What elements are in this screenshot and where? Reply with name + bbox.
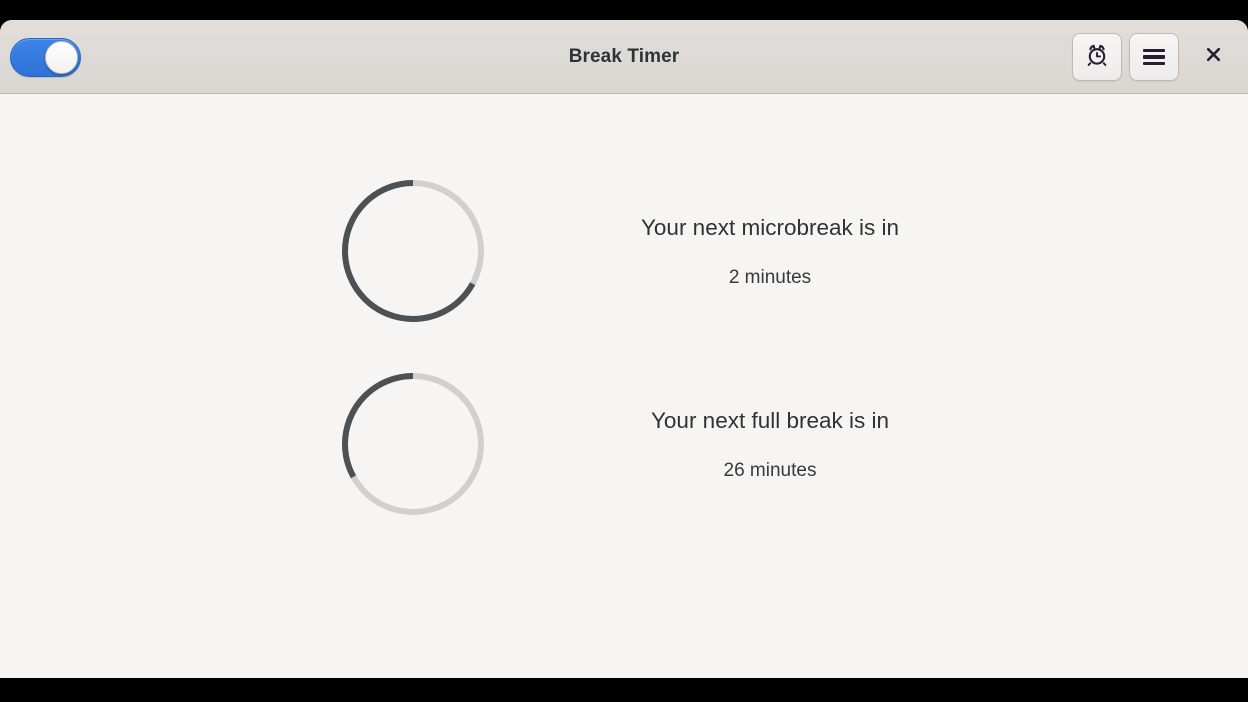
microbreak-title: Your next microbreak is in bbox=[560, 214, 980, 241]
enable-breaks-toggle[interactable] bbox=[10, 38, 81, 77]
microbreak-timer-row: Your next microbreak is in 2 minutes bbox=[0, 176, 1248, 326]
fullbreak-value: 26 minutes bbox=[560, 460, 980, 482]
close-icon bbox=[1205, 46, 1222, 68]
header-bar: Break Timer bbox=[0, 20, 1248, 94]
break-timer-window: Break Timer bbox=[0, 20, 1248, 678]
microbreak-progress-ring bbox=[338, 176, 488, 326]
microbreak-text-block: Your next microbreak is in 2 minutes bbox=[560, 214, 980, 289]
toggle-knob bbox=[45, 41, 78, 74]
close-button[interactable] bbox=[1192, 36, 1234, 78]
hamburger-menu-button[interactable] bbox=[1129, 33, 1179, 81]
fullbreak-timer-row: Your next full break is in 26 minutes bbox=[0, 369, 1248, 519]
page-title: Break Timer bbox=[0, 46, 1248, 68]
hamburger-menu-icon bbox=[1143, 49, 1165, 65]
header-button-group bbox=[1072, 20, 1248, 94]
fullbreak-text-block: Your next full break is in 26 minutes bbox=[560, 407, 980, 482]
fullbreak-title: Your next full break is in bbox=[560, 407, 980, 434]
microbreak-value: 2 minutes bbox=[560, 267, 980, 289]
content-area: Your next microbreak is in 2 minutes You… bbox=[0, 94, 1248, 678]
alarm-clock-icon bbox=[1085, 43, 1109, 72]
alarm-clock-button[interactable] bbox=[1072, 33, 1122, 81]
fullbreak-progress-ring bbox=[338, 369, 488, 519]
